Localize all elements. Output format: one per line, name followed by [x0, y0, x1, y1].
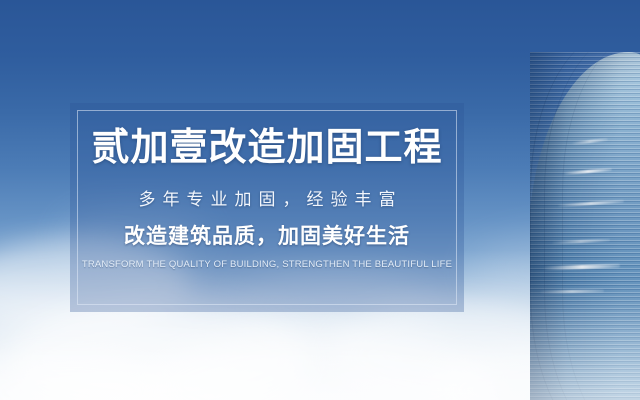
- banner-tagline: 改造建筑品质，加固美好生活: [124, 226, 410, 247]
- skyscraper-image: [530, 52, 640, 400]
- banner-content: 贰加壹改造加固工程 多年专业加固，经验丰富 改造建筑品质，加固美好生活 TRAN…: [70, 103, 464, 312]
- hero-banner: 贰加壹改造加固工程 多年专业加固，经验丰富 改造建筑品质，加固美好生活 TRAN…: [0, 0, 640, 400]
- banner-title: 贰加壹改造加固工程: [91, 129, 442, 167]
- text-frame-panel: 贰加壹改造加固工程 多年专业加固，经验丰富 改造建筑品质，加固美好生活 TRAN…: [70, 103, 464, 312]
- banner-subtitle: 多年专业加固，经验丰富: [132, 191, 403, 208]
- facade-haze: [530, 280, 640, 400]
- banner-tagline-english: TRANSFORM THE QUALITY OF BUILDING, STREN…: [82, 260, 452, 270]
- skyscraper-body: [530, 52, 640, 400]
